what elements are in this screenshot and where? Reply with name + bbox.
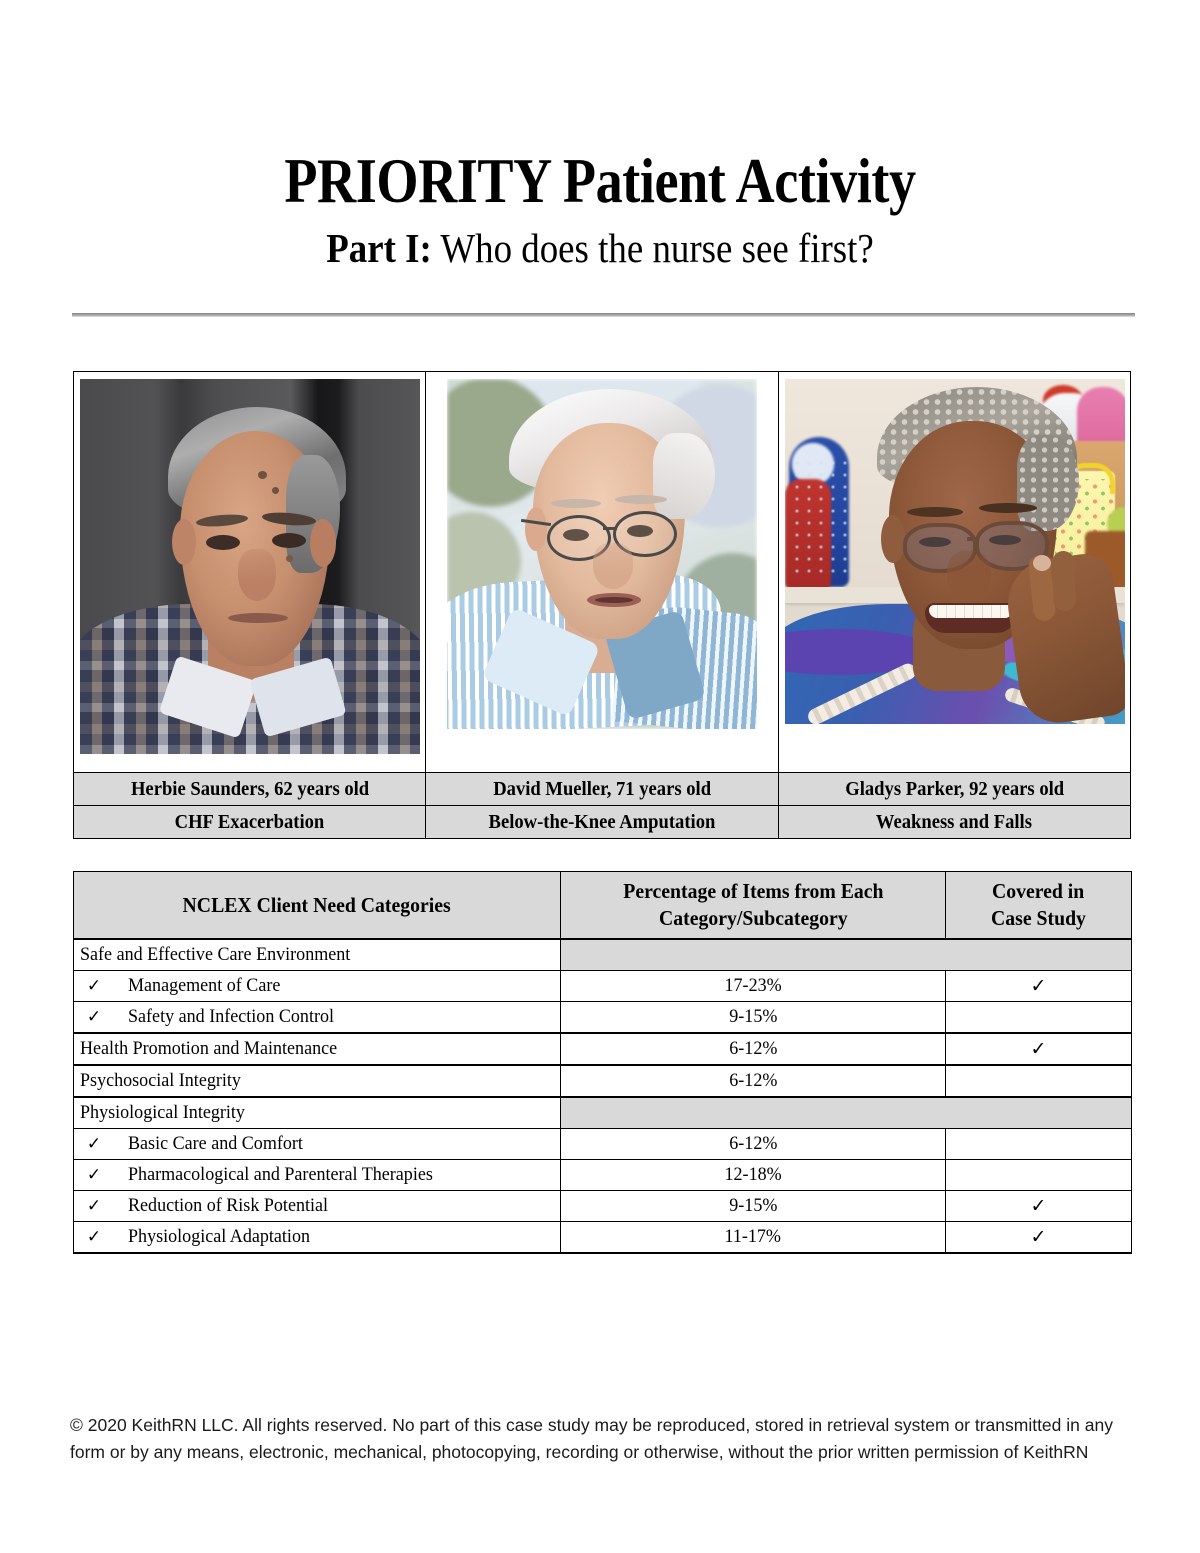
page-title: PRIORITY Patient Activity [84, 146, 1116, 216]
section-shaded-cell [561, 939, 1132, 971]
table-row: ✓Pharmacological and Parenteral Therapie… [74, 1160, 1132, 1191]
patient-condition-2: Below-the-Knee Amputation [426, 806, 778, 839]
category-label: Safe and Effective Care Environment [80, 943, 350, 967]
subtitle-lead: Part I: [326, 225, 432, 271]
subcategory-label-cell: ✓Physiological Adaptation [74, 1222, 561, 1254]
percentage-value: 11-17% [725, 1225, 781, 1249]
subcategory-label: Physiological Adaptation [128, 1225, 310, 1249]
document-header: PRIORITY Patient Activity Part I: Who do… [0, 146, 1200, 274]
subtitle-rest: Who does the nurse see first? [432, 225, 874, 271]
header-percentage: Percentage of Items from Each Category/S… [561, 872, 946, 940]
table-row: ✓Physiological Adaptation11-17%✓ [74, 1222, 1132, 1254]
header-covered: Covered in Case Study [946, 872, 1132, 940]
table-header-row: NCLEX Client Need Categories Percentage … [74, 872, 1132, 940]
table-row: ✓Basic Care and Comfort6-12% [74, 1129, 1132, 1160]
covered-checkmark-icon: ✓ [946, 1191, 1132, 1222]
table-row: Psychosocial Integrity6-12% [74, 1065, 1132, 1097]
percentage-value: 6-12% [729, 1069, 777, 1093]
category-label-cell: Psychosocial Integrity [74, 1065, 561, 1097]
table-row: ✓Safety and Infection Control9-15% [74, 1002, 1132, 1034]
category-label: Physiological Integrity [80, 1101, 245, 1125]
nclex-client-need-categories-table: NCLEX Client Need Categories Percentage … [73, 871, 1132, 1254]
patient-name-2: David Mueller, 71 years old [426, 773, 778, 806]
category-label: Psychosocial Integrity [80, 1069, 241, 1093]
checkmark-icon: ✓ [80, 974, 108, 998]
covered-empty-cell [946, 1160, 1132, 1191]
checkmark-icon: ✓ [80, 1132, 108, 1156]
table-row: Safe and Effective Care Environment [74, 939, 1132, 971]
covered-empty-cell [946, 1129, 1132, 1160]
patient-photo-cell-1 [74, 372, 426, 773]
subcategory-label-cell: ✓Basic Care and Comfort [74, 1129, 561, 1160]
patient-photo-table: Herbie Saunders, 62 years old David Muel… [73, 371, 1131, 839]
patient-name-3: Gladys Parker, 92 years old [778, 773, 1130, 806]
copyright-footer: © 2020 KeithRN LLC. All rights reserved.… [70, 1412, 1130, 1466]
subcategory-label: Reduction of Risk Potential [128, 1194, 328, 1218]
patient-photo-cell-2 [426, 372, 778, 773]
percentage-cell: 12-18% [561, 1160, 946, 1191]
percentage-value: 17-23% [724, 974, 781, 998]
patient-condition-3: Weakness and Falls [778, 806, 1130, 839]
percentage-cell: 9-15% [561, 1191, 946, 1222]
covered-empty-cell [946, 1065, 1132, 1097]
percentage-cell: 6-12% [561, 1065, 946, 1097]
checkmark-icon: ✓ [80, 1194, 108, 1218]
subcategory-label: Safety and Infection Control [128, 1005, 334, 1029]
covered-checkmark-icon: ✓ [946, 971, 1132, 1002]
table-row: Health Promotion and Maintenance6-12%✓ [74, 1033, 1132, 1065]
percentage-cell: 9-15% [561, 1002, 946, 1034]
covered-checkmark-icon: ✓ [946, 1033, 1132, 1065]
patient-name-row: Herbie Saunders, 62 years old David Muel… [74, 773, 1131, 806]
elderly-man-plaid-shirt-photo [80, 379, 420, 754]
category-label-cell: Health Promotion and Maintenance [74, 1033, 561, 1065]
category-label-cell: Safe and Effective Care Environment [74, 939, 561, 971]
header-divider [72, 313, 1135, 317]
percentage-cell: 6-12% [561, 1129, 946, 1160]
percentage-cell: 6-12% [561, 1033, 946, 1065]
checkmark-icon: ✓ [80, 1163, 108, 1187]
subcategory-label: Pharmacological and Parenteral Therapies [128, 1163, 433, 1187]
category-label-cell: Physiological Integrity [74, 1097, 561, 1129]
photo-row [74, 372, 1131, 773]
subcategory-label-cell: ✓Pharmacological and Parenteral Therapie… [74, 1160, 561, 1191]
header-category: NCLEX Client Need Categories [74, 872, 561, 940]
percentage-value: 9-15% [729, 1194, 777, 1218]
percentage-value: 12-18% [724, 1163, 781, 1187]
category-label: Health Promotion and Maintenance [80, 1037, 337, 1061]
percentage-cell: 17-23% [561, 971, 946, 1002]
page-subtitle: Part I: Who does the nurse see first? [60, 222, 1140, 274]
percentage-value: 6-12% [729, 1037, 777, 1061]
subcategory-label-cell: ✓Reduction of Risk Potential [74, 1191, 561, 1222]
covered-checkmark-icon: ✓ [946, 1222, 1132, 1254]
checkmark-icon: ✓ [80, 1225, 108, 1249]
table-row: Physiological Integrity [74, 1097, 1132, 1129]
patient-condition-1: CHF Exacerbation [74, 806, 426, 839]
percentage-value: 9-15% [729, 1005, 777, 1029]
subcategory-label: Basic Care and Comfort [128, 1132, 303, 1156]
table-row: ✓Management of Care17-23%✓ [74, 971, 1132, 1002]
checkmark-icon: ✓ [80, 1005, 108, 1029]
elderly-woman-glasses-smiling-photo [785, 379, 1125, 724]
copyright-text: © 2020 KeithRN LLC. All rights reserved.… [70, 1415, 1113, 1462]
subcategory-label-cell: ✓Management of Care [74, 971, 561, 1002]
patient-photo-cell-3 [778, 372, 1130, 773]
covered-empty-cell [946, 1002, 1132, 1034]
elderly-man-glasses-blue-shirt-photo [447, 379, 757, 729]
section-shaded-cell [561, 1097, 1132, 1129]
percentage-cell: 11-17% [561, 1222, 946, 1254]
percentage-value: 6-12% [729, 1132, 777, 1156]
subcategory-label: Management of Care [128, 974, 280, 998]
table-body: Safe and Effective Care Environment✓Mana… [74, 939, 1132, 1253]
table-row: ✓Reduction of Risk Potential9-15%✓ [74, 1191, 1132, 1222]
subcategory-label-cell: ✓Safety and Infection Control [74, 1002, 561, 1034]
patient-name-1: Herbie Saunders, 62 years old [74, 773, 426, 806]
patient-condition-row: CHF Exacerbation Below-the-Knee Amputati… [74, 806, 1131, 839]
